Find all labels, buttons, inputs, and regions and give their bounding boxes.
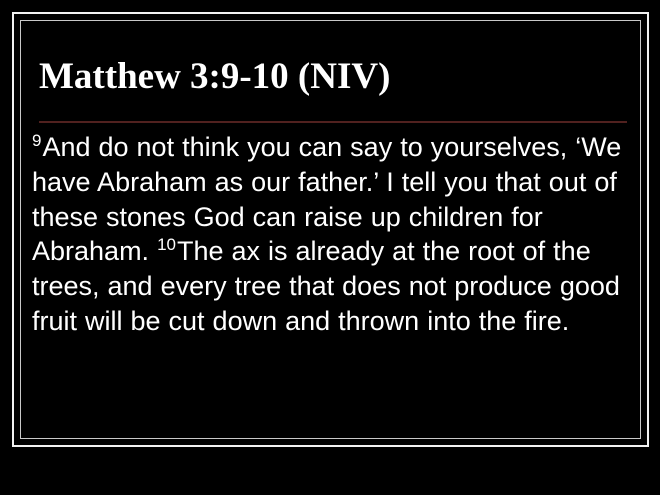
slide-content: Matthew 3:9-10 (NIV) 9And do not think y… [14, 14, 647, 445]
presentation-slide: Matthew 3:9-10 (NIV) 9And do not think y… [0, 0, 660, 495]
slide-outer-border: Matthew 3:9-10 (NIV) 9And do not think y… [12, 12, 649, 447]
title-divider-line [39, 121, 627, 123]
slide-title: Matthew 3:9-10 (NIV) [39, 56, 390, 98]
scripture-body-text: 9And do not think you can say to yoursel… [32, 130, 632, 339]
verse-number-9: 9 [32, 131, 42, 150]
verse-number-10: 10 [157, 235, 177, 254]
